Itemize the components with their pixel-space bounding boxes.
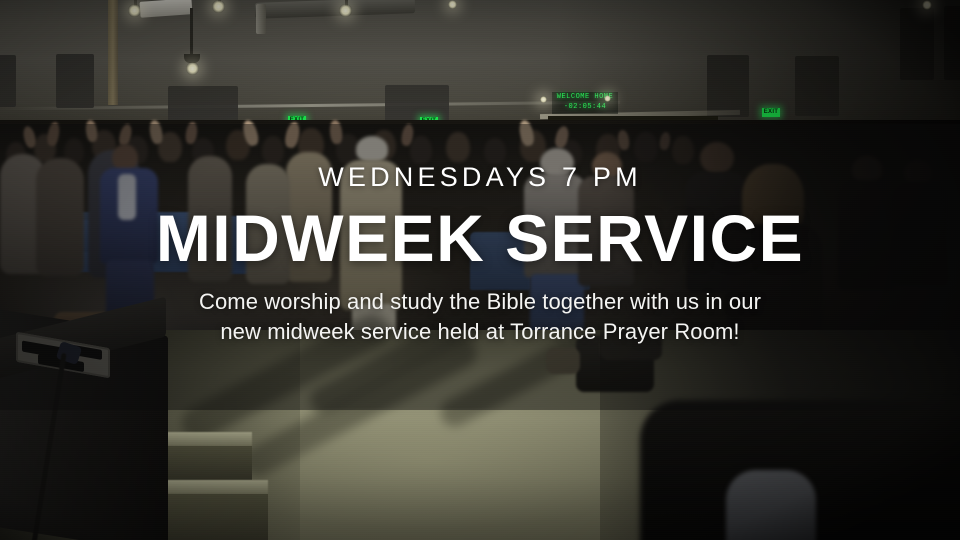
pendant-light xyxy=(128,4,141,17)
acoustic-panel xyxy=(168,86,238,124)
acoustic-panel xyxy=(0,55,16,107)
stage-light xyxy=(540,96,547,103)
foreground-shoulder xyxy=(726,470,816,540)
poster-headline: MIDWEEK SERVICE xyxy=(156,205,804,271)
description-line-2: new midweek service held at Torrance Pra… xyxy=(199,317,761,347)
pendant-light xyxy=(448,0,457,9)
pendant-light xyxy=(186,62,199,75)
ceiling-pipe xyxy=(256,4,266,34)
acoustic-panel xyxy=(56,54,94,108)
stage-light xyxy=(604,95,611,102)
stage-step-face xyxy=(160,494,268,540)
poster-description: Come worship and study the Bible togethe… xyxy=(199,287,761,346)
wall-beam xyxy=(108,0,118,105)
stage-step xyxy=(160,480,268,494)
promo-poster: WELCOME HOME -02:05:44 EXIT EXIT EXIT xyxy=(0,0,960,540)
pendant-stem xyxy=(190,8,193,56)
event-time-kicker: WEDNESDAYS 7 PM xyxy=(318,164,642,191)
exit-sign: EXIT xyxy=(762,108,780,117)
acoustic-panel xyxy=(385,85,449,123)
pendant-light xyxy=(339,4,352,17)
pendant-light xyxy=(212,0,225,13)
poster-text-block: WEDNESDAYS 7 PM MIDWEEK SERVICE Come wor… xyxy=(0,124,960,410)
description-line-1: Come worship and study the Bible togethe… xyxy=(199,287,761,317)
led-display-line-2: -02:05:44 xyxy=(552,102,618,112)
pendant-light xyxy=(922,0,932,10)
